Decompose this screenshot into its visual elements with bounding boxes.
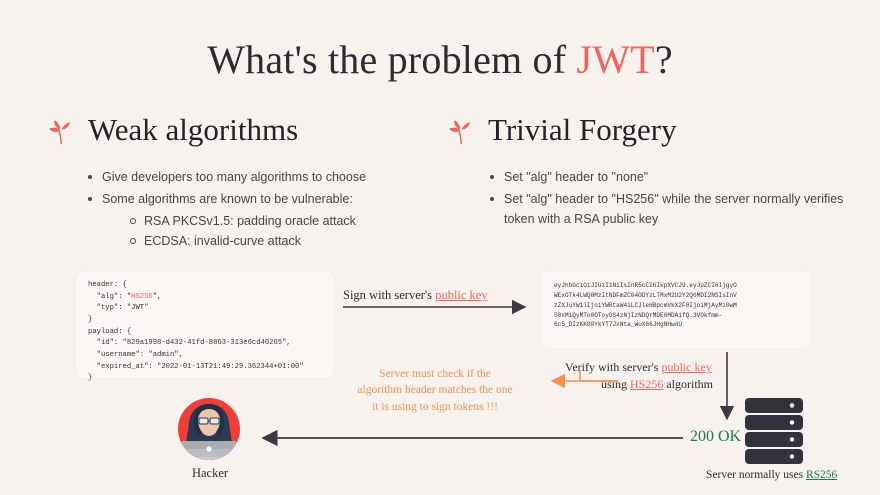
code-line: "typ": "JWT" bbox=[88, 304, 148, 312]
code-line: payload: { bbox=[88, 328, 131, 336]
server-icon bbox=[745, 398, 803, 464]
jwt-payload-code-card: header: { "alg": "HS256", "typ": "JWT" }… bbox=[76, 271, 334, 378]
code-line: "id": "829a1998-d432-41fd-8863-313e6cd40… bbox=[88, 339, 291, 347]
warning-callout: Server must check if the algorithm heade… bbox=[331, 366, 539, 415]
warning-line: it is using to sign tokens !!! bbox=[331, 399, 539, 415]
server-caption-rs256-link: RS256 bbox=[806, 469, 837, 481]
code-line: ", bbox=[153, 293, 162, 301]
verify-label-public-key-link: public key bbox=[661, 360, 711, 374]
token-line: WExOTk4LWQ0MzItNDFmZC04ODYzLTMxM2U2Y2Q0M… bbox=[554, 291, 798, 301]
jwt-token-code-card: eyJhbGciOiJIUzI1NiIsInR5cCI6IkpXVCJ9.eyJ… bbox=[541, 271, 811, 349]
seedling-icon bbox=[446, 115, 476, 145]
verify-arrow-label-line2: using HS256 algorithm bbox=[601, 377, 713, 392]
warning-line: Server must check if the bbox=[331, 366, 539, 382]
list-item: ECDSA: invalid-curve attack bbox=[130, 232, 438, 251]
list-item: Set "alg" header to "none" bbox=[490, 168, 850, 187]
verify-label-algorithm: algorithm bbox=[663, 377, 713, 391]
hacker-caption: Hacker bbox=[166, 466, 254, 481]
section-heading-label: Weak algorithms bbox=[88, 112, 298, 148]
token-line: 6c5_DIzKK08YkYT7JxNta_WoX66JHgNHwdU bbox=[554, 320, 798, 330]
verify-arrow-label-line1: Verify with server's public key bbox=[565, 360, 712, 375]
bullet-text: Give developers too many algorithms to c… bbox=[102, 170, 366, 184]
bullet-subtext: RSA PKCSv1.5: padding oracle attack bbox=[144, 214, 356, 228]
code-line: } bbox=[88, 316, 92, 324]
token-line: eyJhbGciOiJIUzI1NiIsInR5cCI6IkpXVCJ9.eyJ… bbox=[554, 281, 798, 291]
code-line: header: { bbox=[88, 281, 127, 289]
bullet-list-trivial-forgery: Set "alg" header to "none" Set "alg" hea… bbox=[490, 168, 850, 232]
list-item: Give developers too many algorithms to c… bbox=[88, 168, 438, 187]
section-heading-label: Trivial Forgery bbox=[488, 112, 677, 148]
bullet-text: Set "alg" header to "none" bbox=[504, 170, 648, 184]
bullet-text: Some algorithms are known to be vulnerab… bbox=[102, 192, 353, 206]
sign-arrow-label: Sign with server's public key bbox=[343, 288, 488, 303]
verify-label-prefix: Verify with server's bbox=[565, 360, 661, 374]
bullet-text: Set "alg" header to "HS256" while the se… bbox=[504, 192, 843, 225]
title-accent-jwt: JWT bbox=[576, 37, 654, 82]
list-item: RSA PKCSv1.5: padding oracle attack bbox=[130, 212, 438, 231]
section-heading-trivial-forgery: Trivial Forgery bbox=[446, 112, 677, 148]
token-line: zZXJuYW1lIjoiYWRtaW4iLCJleHBpcmVkX2F0Ijo… bbox=[554, 301, 798, 311]
code-line: "username": "admin", bbox=[88, 351, 183, 359]
status-badge-200-ok: 200 OK bbox=[690, 428, 741, 446]
bullet-subtext: ECDSA: invalid-curve attack bbox=[144, 234, 301, 248]
token-line: S0xMiQyMTo0OToyOS4zNjIzNDQrMDE6MDAifQ.3V… bbox=[554, 311, 798, 321]
bullet-list-weak-algorithms: Give developers too many algorithms to c… bbox=[88, 168, 438, 255]
seedling-icon bbox=[46, 115, 76, 145]
list-item: Some algorithms are known to be vulnerab… bbox=[88, 190, 438, 251]
hacker-avatar bbox=[173, 398, 245, 462]
sign-label-public-key-link: public key bbox=[435, 288, 487, 302]
server-caption-prefix: Server normally uses bbox=[706, 469, 806, 481]
page-title: What's the problem of JWT? bbox=[0, 36, 880, 83]
code-line: "alg": " bbox=[88, 293, 131, 301]
section-heading-weak-algorithms: Weak algorithms bbox=[46, 112, 298, 148]
sign-label-prefix: Sign with server's bbox=[343, 288, 435, 302]
title-prefix: What's the problem of bbox=[207, 37, 576, 82]
code-line: "expired_at": "2022-01-13T21:49:29.36234… bbox=[88, 363, 304, 371]
verify-label-hs256-link: HS256 bbox=[630, 377, 663, 391]
code-line: } bbox=[88, 374, 92, 382]
verify-label-using: using bbox=[601, 377, 630, 391]
warning-line: algorithm header matches the one bbox=[331, 382, 539, 398]
slide-canvas: What's the problem of JWT? Weak algorith… bbox=[0, 0, 880, 495]
list-item: Set "alg" header to "HS256" while the se… bbox=[490, 190, 850, 229]
title-suffix: ? bbox=[655, 37, 673, 82]
code-alg-value: HS256 bbox=[131, 293, 153, 301]
server-caption: Server normally uses RS256 bbox=[706, 469, 837, 481]
